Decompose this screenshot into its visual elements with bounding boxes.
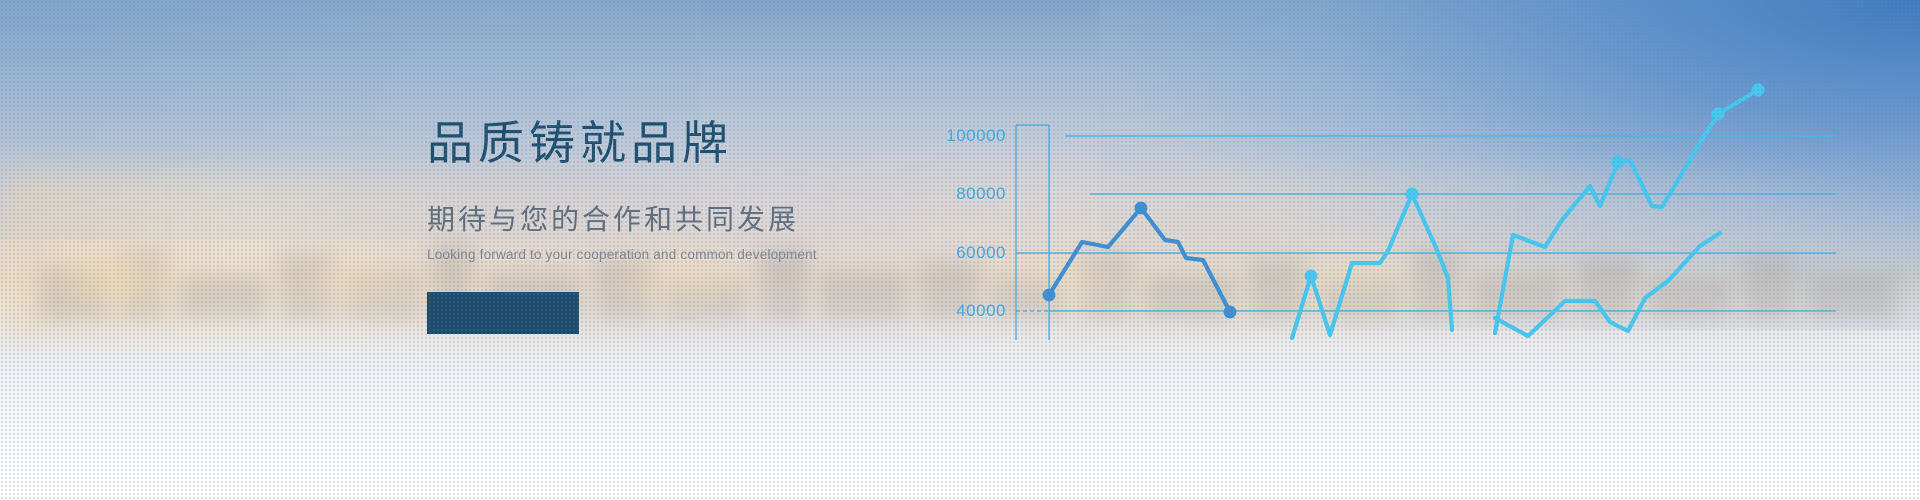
page-subtitle: 期待与您的合作和共同发展 bbox=[427, 198, 1187, 238]
data-point-marker bbox=[1611, 155, 1624, 168]
cta-button[interactable] bbox=[427, 292, 579, 334]
page-title: 品质铸就品牌 bbox=[427, 120, 1187, 166]
data-point-marker bbox=[1406, 188, 1419, 201]
page-subtitle-english: Looking forward to your cooperation and … bbox=[427, 247, 1187, 262]
chart-series-lower bbox=[1495, 233, 1720, 336]
data-point-marker bbox=[1711, 107, 1724, 120]
hero-text-block: 品质铸就品牌 期待与您的合作和共同发展 Looking forward to y… bbox=[427, 120, 1187, 334]
data-point-marker bbox=[1305, 270, 1318, 283]
data-point-marker bbox=[1751, 83, 1764, 96]
data-point-marker bbox=[1224, 306, 1237, 319]
chart-series-mid bbox=[1292, 188, 1452, 338]
hero-banner: 100000 80000 60000 40000 品质铸就品牌 期待与您的合作和… bbox=[0, 0, 1920, 500]
chart-series-upper bbox=[1495, 83, 1765, 333]
